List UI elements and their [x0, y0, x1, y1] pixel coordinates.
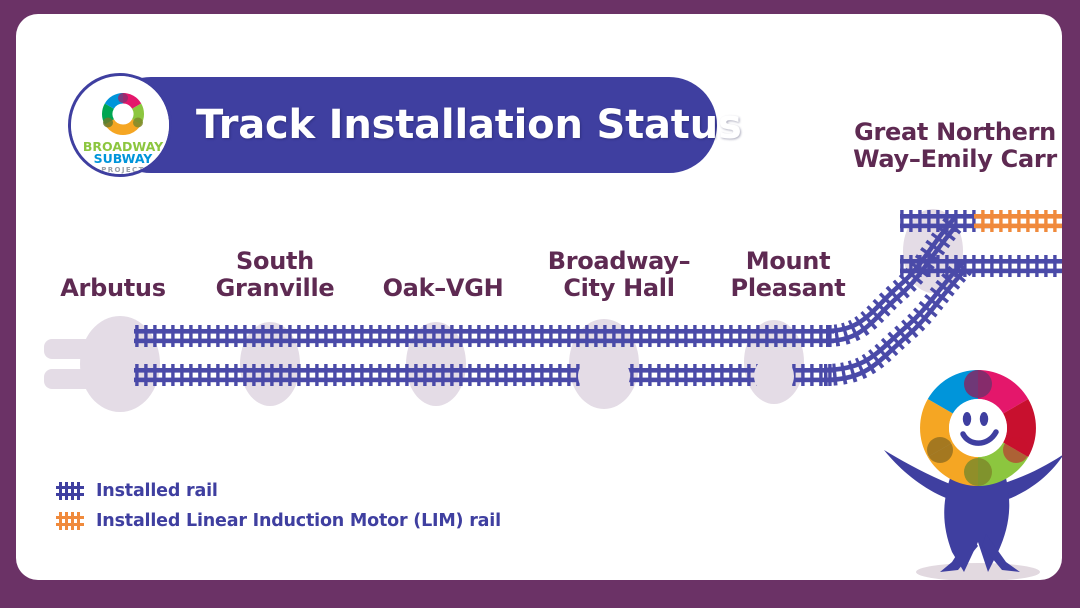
- city-hall-rail-gap: [578, 354, 630, 398]
- installed-rail-icon: [56, 480, 86, 502]
- content-card: Track Installation Status BROADWAY SUBWA: [16, 14, 1062, 580]
- broadway-subway-mascot: [878, 366, 1062, 580]
- legend-label-installed-lim-rail: Installed Linear Induction Motor (LIM) r…: [96, 511, 501, 531]
- station-label-broadway-city-hall: Broadway– City Hall: [529, 248, 709, 302]
- legend-item-installed-rail: Installed rail: [56, 476, 576, 506]
- station-label-oak-vgh: Oak–VGH: [368, 275, 518, 302]
- legend-label-installed-rail: Installed rail: [96, 481, 218, 501]
- legend: Installed rail Installed Linear Inductio…: [56, 476, 576, 536]
- legend-item-installed-lim-rail: Installed Linear Induction Motor (LIM) r…: [56, 506, 576, 536]
- installed-lim-rail-icon: [56, 510, 86, 532]
- lim-rail-segment: [976, 210, 1062, 232]
- logo-line2: SUBWAY: [94, 151, 154, 166]
- infographic-frame: Track Installation Status BROADWAY SUBWA: [0, 0, 1080, 608]
- station-label-arbutus: Arbutus: [38, 275, 188, 302]
- station-label-south-granville: South Granville: [200, 248, 350, 302]
- station-label-mount-pleasant: Mount Pleasant: [708, 248, 868, 302]
- page-title: Track Installation Status: [196, 96, 696, 154]
- broadway-subway-project-logo: BROADWAY SUBWAY PROJECT: [68, 73, 172, 177]
- station-label-great-northern-way: Great Northern Way–Emily Carr: [840, 119, 1062, 173]
- logo-line3: PROJECT: [101, 166, 145, 174]
- mount-pleasant-rail-gap: [754, 356, 794, 396]
